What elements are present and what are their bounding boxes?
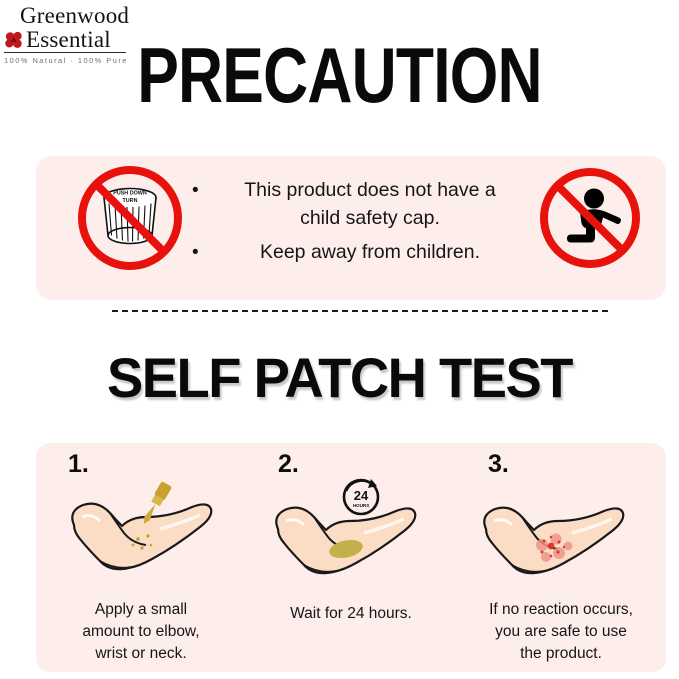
page-title-precaution: PRECAUTION [68,36,611,114]
no-child-safety-cap-icon: PUSH DOWN TURN [78,166,182,270]
no-children-icon [540,168,640,268]
step-caption-line3: the product. [520,645,602,662]
step-caption-line2: amount to elbow, [82,623,199,640]
elbow-with-dropper-icon [36,473,246,588]
elbow-with-24-hours-clock-icon: 24 HOURS [246,473,456,588]
bullet-marker: • [192,238,208,266]
brand-name-line1: Greenwood [4,4,130,27]
bullet-text-line2: child safety cap. [300,207,440,229]
page-title-self-patch-test: SELF PATCH TEST [10,347,669,409]
badge-unit: HOURS [353,503,370,508]
list-item: • Keep away from children. [192,238,532,266]
step-caption-line1: If no reaction occurs, [489,601,633,618]
step-caption: If no reaction occurs, you are safe to u… [462,599,660,665]
step-3: 3. [456,443,666,672]
precaution-bullet-list: • This product does not have a child saf… [192,176,532,266]
section-divider [112,310,608,312]
step-2: 2. 24 HOURS Wait for 24 hours. [246,443,456,672]
list-item: • This product does not have a child saf… [192,176,532,232]
step-caption: Wait for 24 hours. [252,603,450,625]
elbow-with-reaction-spots-icon [456,473,666,588]
bullet-marker: • [192,176,208,204]
step-caption-line1: Apply a small [95,601,187,618]
badge-value: 24 [354,488,369,503]
bullet-text-line1: This product does not have a [244,179,496,201]
step-caption-line2: you are safe to use [495,623,627,640]
step-1: 1. [36,443,246,672]
bullet-text: Keep away from children. [208,238,532,266]
precaution-infographic: Greenwood [0,0,679,679]
step-caption-line3: wrist or neck. [95,645,186,662]
step-caption: Apply a small amount to elbow, wrist or … [42,599,240,665]
bullet-text: This product does not have a child safet… [208,176,532,232]
flower-icon [4,30,24,50]
